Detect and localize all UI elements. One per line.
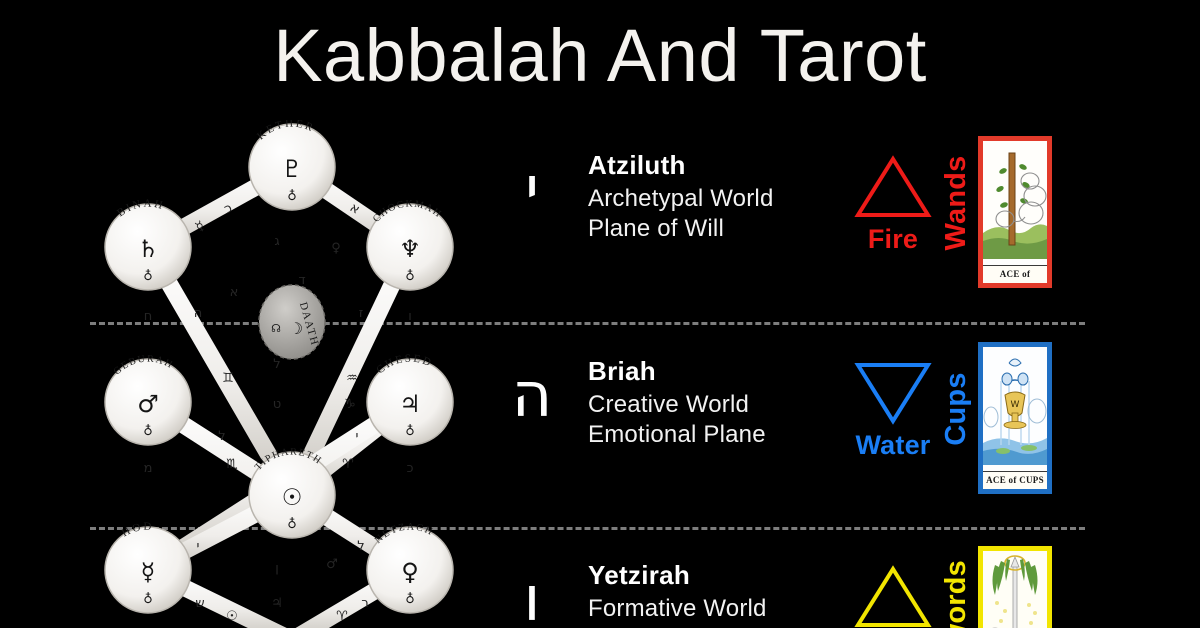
card-artwork: W — [983, 347, 1047, 472]
svg-text:☿: ☿ — [141, 558, 156, 586]
path-glyph: ל — [273, 357, 280, 372]
page-title: Kabbalah And Tarot — [0, 14, 1200, 98]
path-glyph: ר — [361, 596, 368, 611]
path-glyph: ☉ — [226, 609, 238, 624]
path-glyph: ♑ — [344, 397, 356, 412]
world-row-briah: ה Briah Creative World Emotional Plane W… — [500, 356, 1200, 526]
path-glyph: ל — [218, 429, 225, 444]
svg-text:☊: ☊ — [271, 322, 281, 335]
card-artwork — [983, 141, 1047, 266]
suit-label: Wands — [941, 143, 971, 263]
suit-block-swords: Swords — [920, 548, 984, 628]
hebrew-letter-vav: ו — [500, 568, 564, 628]
path-glyph: ל — [357, 539, 364, 554]
path-glyph: מ — [144, 461, 153, 476]
path-glyph: ♒ — [346, 371, 358, 386]
svg-text:♄: ♄ — [137, 235, 159, 263]
card-caption: ACE of CUPS — [983, 471, 1047, 489]
card-artwork — [983, 551, 1047, 628]
path-glyph: ח — [144, 309, 153, 324]
sephirah-chesed: CHESED ♃ ♁ — [367, 353, 453, 445]
svg-text:♁: ♁ — [405, 424, 415, 439]
tree-of-life-diagram: כ ☿ א △ ג ♀ א ד ה ז ח ו ♌ ♑ ♊ ♒ ל ט ♑ ל — [80, 120, 500, 628]
hebrew-letter-yod: י — [500, 158, 564, 220]
sephirah-netzach: NETZACH ♀ ♁ — [367, 522, 453, 613]
suit-block-wands: Wands — [920, 138, 984, 318]
poster-canvas: Kabbalah And Tarot — [0, 0, 1200, 628]
world-row-yetzirah: ו Yetzirah Formative World Air Swords — [500, 560, 1200, 628]
path-glyph: ד — [298, 273, 305, 288]
sephirah-binah: BINAH ♄ ♁ — [105, 198, 191, 290]
svg-text:♁: ♁ — [405, 269, 415, 284]
suit-block-cups: Cups — [920, 344, 984, 524]
svg-text:♂: ♂ — [137, 390, 159, 418]
path-glyph: ש — [195, 596, 204, 611]
path-glyph: ♀ — [331, 241, 341, 256]
world-row-atziluth: י Atziluth Archetypal World Plane of Wil… — [500, 150, 1200, 320]
svg-text:☉: ☉ — [282, 485, 303, 511]
svg-text:♆: ♆ — [399, 235, 421, 263]
path-glyph: ג — [274, 234, 279, 249]
svg-text:☽: ☽ — [289, 319, 303, 338]
path-glyph: כ — [407, 461, 414, 476]
path-glyph: ♈ — [336, 609, 348, 624]
sephirah-tiphareth: TIPHARETH ☉ ♁ — [249, 447, 335, 538]
svg-text:♁: ♁ — [287, 517, 297, 532]
suit-label: Swords — [941, 553, 971, 628]
sephirah-hod: HOD ☿ ♁ — [105, 521, 191, 613]
svg-text:W: W — [1011, 400, 1020, 410]
sephirah-geburah: GEBURAH ♂ ♁ — [105, 353, 191, 445]
path-glyph: י — [356, 429, 359, 444]
path-glyph: ♃ — [271, 596, 283, 611]
svg-text:♇: ♇ — [281, 155, 303, 183]
path-glyph: ן — [275, 561, 279, 576]
path-glyph: ♏ — [226, 457, 238, 472]
svg-text:♁: ♁ — [143, 269, 153, 284]
tarot-card-ace-of-cups[interactable]: W ACE of CUPS — [978, 342, 1052, 494]
svg-text:♀: ♀ — [401, 558, 419, 586]
card-caption: ACE of WANDS — [983, 265, 1047, 283]
path-glyph: א — [230, 285, 239, 300]
svg-text:♁: ♁ — [143, 592, 153, 607]
path-glyph: ו — [408, 309, 412, 324]
sephirah-kether: KETHER ♇ ♁ — [249, 120, 335, 210]
path-glyph: ♊ — [222, 371, 234, 386]
path-glyph: ♈ — [342, 457, 354, 472]
sephirah-daath: DAATH ☊ ☽ — [259, 285, 325, 359]
path-glyph: ה — [194, 306, 203, 321]
svg-text:♁: ♁ — [287, 189, 297, 204]
tarot-card-ace-of-wands[interactable]: ACE of WANDS — [978, 136, 1052, 288]
path-glyph: ט — [273, 397, 281, 412]
tarot-card-ace-of-swords[interactable]: ACE of SWORDS — [978, 546, 1052, 628]
path-glyph: י — [197, 539, 200, 554]
suit-label: Cups — [941, 349, 971, 469]
sephirah-chockmah: CHOCKMAH ♆ ♁ — [367, 199, 453, 290]
svg-text:♃: ♃ — [399, 390, 421, 418]
path-glyph: ♂ — [326, 557, 338, 572]
path-glyph: ז — [359, 306, 364, 321]
svg-text:♁: ♁ — [405, 592, 415, 607]
svg-text:♁: ♁ — [143, 424, 153, 439]
hebrew-letter-heh: ה — [500, 364, 564, 426]
